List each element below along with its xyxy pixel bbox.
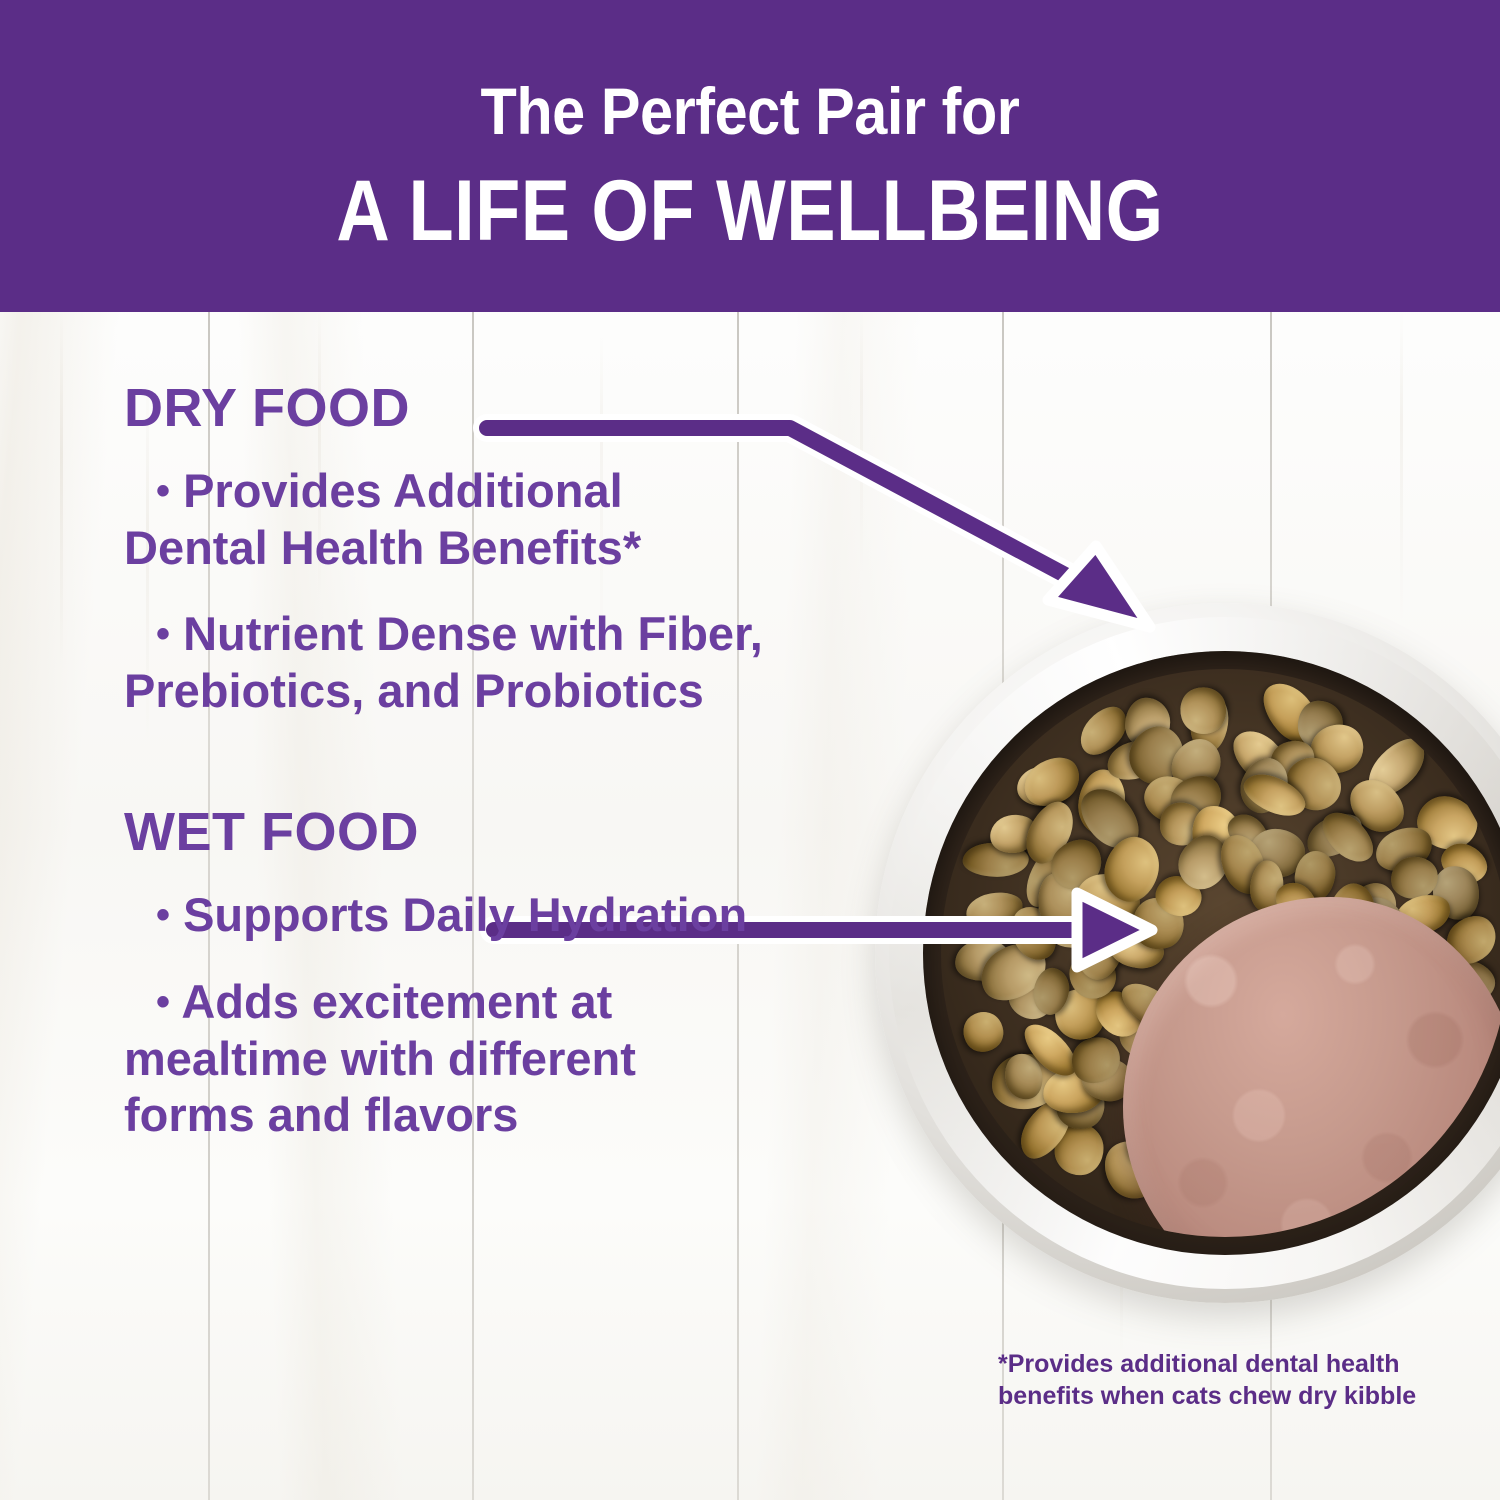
bullet-item: • Nutrient Dense with Fiber, Prebiotics,… <box>124 606 764 720</box>
bullet-marker-icon: • <box>156 893 170 937</box>
kibble-piece <box>954 1004 1010 1060</box>
section-heading-wet-food: WET FOOD <box>124 804 804 861</box>
dry-kibble-area <box>941 669 1500 1237</box>
bullet-text: Nutrient Dense with Fiber, Prebiotics, a… <box>124 607 763 717</box>
bullet-text: Adds excitement at mealtime with differe… <box>124 975 636 1142</box>
bullet-item: • Provides Additional Dental Health Bene… <box>124 463 764 577</box>
header-banner: The Perfect Pair for A LIFE OF WELLBEING <box>0 0 1500 312</box>
bullet-text: Supports Daily Hydration <box>183 888 747 941</box>
bowl-outer-rim <box>875 603 1500 1303</box>
product-feature-graphic: The Perfect Pair for A LIFE OF WELLBEING <box>0 0 1500 1500</box>
bullet-marker-icon: • <box>156 469 170 513</box>
header-line-1: The Perfect Pair for <box>75 78 1425 144</box>
wood-grain-streak <box>860 312 863 1500</box>
food-bowl-image <box>875 455 1500 1315</box>
bullet-marker-icon: • <box>156 980 170 1024</box>
header-line-2: A LIFE OF WELLBEING <box>105 168 1395 254</box>
bullet-marker-icon: • <box>156 612 170 656</box>
wet-pate-area <box>1123 897 1500 1237</box>
pate-texture <box>1123 897 1500 1237</box>
benefits-copy-column: DRY FOOD • Provides Additional Dental He… <box>124 380 804 1174</box>
footnote-text: *Provides additional dental health benef… <box>998 1348 1468 1412</box>
wood-grain-streak <box>60 312 63 1500</box>
bullet-text: Provides Additional Dental Health Benefi… <box>124 464 641 574</box>
bullet-item: • Adds excitement at mealtime with diffe… <box>124 974 764 1145</box>
bullet-item: • Supports Daily Hydration <box>124 887 764 944</box>
section-heading-dry-food: DRY FOOD <box>124 380 804 437</box>
header-text-block: The Perfect Pair for A LIFE OF WELLBEING <box>0 0 1500 254</box>
